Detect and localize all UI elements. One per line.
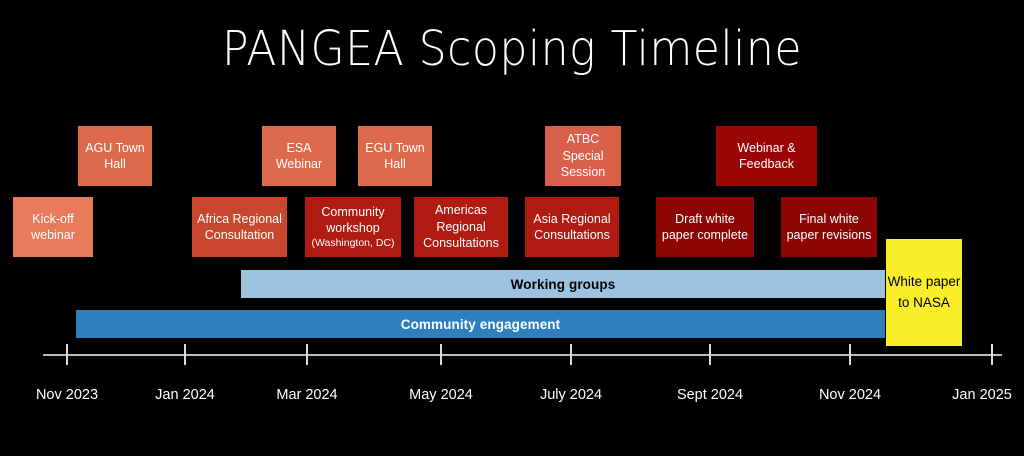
milestone-white-paper-to-nasa[interactable]: White paper to NASA (886, 239, 962, 346)
event-label-wrapper: Community workshop (Washington, DC) (308, 204, 398, 251)
event-label: EGU Town Hall (361, 140, 429, 173)
event-box-asia-regional-consultations[interactable]: Asia Regional Consultations (525, 197, 619, 257)
event-label: ESA Webinar (265, 140, 333, 173)
event-box-esa-webinar[interactable]: ESA Webinar (262, 126, 336, 186)
axis-tick-label: Mar 2024 (276, 387, 337, 403)
axis-tick-label: Jan 2025 (952, 387, 1012, 403)
event-box-webinar-and-feedback[interactable]: Webinar & Feedback (716, 126, 817, 186)
axis-tick-label: Nov 2024 (819, 387, 881, 403)
axis-tick (570, 344, 572, 365)
event-label: Community workshop (321, 205, 384, 236)
phase-bar-label: Working groups (511, 277, 616, 292)
milestone-label: White paper to NASA (886, 272, 962, 313)
axis-tick-label: May 2024 (409, 387, 473, 403)
event-label: Kick-off webinar (16, 211, 90, 244)
axis-tick (709, 344, 711, 365)
event-box-atbc-special-session[interactable]: ATBC Special Session (545, 126, 621, 186)
axis-tick (184, 344, 186, 365)
event-label: ATBC Special Session (548, 131, 618, 181)
page-title: PANGEA Scoping Timeline (41, 22, 983, 77)
event-label: Draft white paper complete (659, 211, 751, 244)
event-sublabel: (Washington, DC) (308, 237, 398, 251)
event-box-americas-regional-consultations[interactable]: Americas Regional Consultations (414, 197, 508, 257)
phase-bar-working-groups[interactable]: Working groups (241, 270, 885, 298)
event-box-egu-town-hall[interactable]: EGU Town Hall (358, 126, 432, 186)
axis-tick-label: Jan 2024 (155, 387, 215, 403)
axis-tick (306, 344, 308, 365)
phase-bar-community-engagement[interactable]: Community engagement (76, 310, 885, 338)
phase-bar-label: Community engagement (401, 317, 561, 332)
axis-tick (66, 344, 68, 365)
event-label: AGU Town Hall (81, 140, 149, 173)
timeline-slide: PANGEA Scoping Timeline AGU Town Hall ES… (0, 0, 1024, 456)
axis-tick-label: July 2024 (540, 387, 602, 403)
axis-tick (991, 344, 993, 365)
axis-tick-label: Nov 2023 (36, 387, 98, 403)
event-label: Webinar & Feedback (719, 140, 814, 173)
axis-tick (440, 344, 442, 365)
axis-tick-label: Sept 2024 (677, 387, 743, 403)
event-label: Final white paper revisions (784, 211, 874, 244)
axis-tick (849, 344, 851, 365)
event-box-community-workshop[interactable]: Community workshop (Washington, DC) (305, 197, 401, 257)
event-label: Americas Regional Consultations (417, 202, 505, 252)
event-box-final-white-paper-revisions[interactable]: Final white paper revisions (781, 197, 877, 257)
event-box-africa-regional-consultation[interactable]: Africa Regional Consultation (192, 197, 287, 257)
event-label: Africa Regional Consultation (195, 211, 284, 244)
event-box-agu-town-hall[interactable]: AGU Town Hall (78, 126, 152, 186)
event-label: Asia Regional Consultations (528, 211, 616, 244)
event-box-kick-off-webinar[interactable]: Kick-off webinar (13, 197, 93, 257)
timeline-axis (43, 354, 1002, 356)
event-box-draft-white-paper-complete[interactable]: Draft white paper complete (656, 197, 754, 257)
